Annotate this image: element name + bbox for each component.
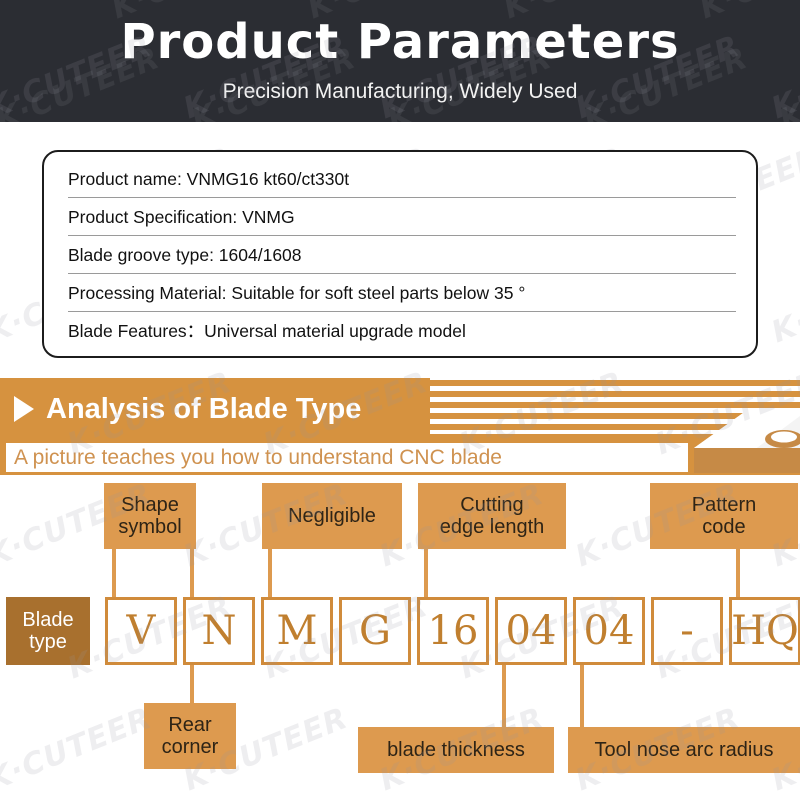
connector-pattern-code (424, 547, 428, 601)
label-negligible-text: Negligible (288, 505, 376, 527)
connector-blade-thickness (502, 663, 506, 729)
blade-code-diagram: Shape symbol Negligible Cutting edge len… (0, 475, 800, 800)
spec-row: Blade Features：Universal material upgrad… (68, 312, 736, 350)
banner-subheading-strip: A picture teaches you how to understand … (0, 440, 800, 475)
spec-row-list: Product name: VNMG16 kt60/ct330t Product… (68, 160, 736, 350)
label-blade-type: Blade type (6, 597, 90, 665)
header-banner: K·CUTEERK·CUTEERK·CUTEERK·CUTEERK·CUTEER… (0, 0, 800, 122)
label-tool-nose-arc-radius: Tool nose arc radius (568, 727, 800, 773)
label-pattern-code-line2: code (692, 516, 756, 538)
watermark-text: K·CUTEER (767, 253, 800, 350)
product-spec-card: Product name: VNMG16 kt60/ct330t Product… (42, 150, 758, 358)
cnc-insert-3d-icon (688, 408, 800, 475)
label-shape-symbol-line1: Shape (118, 494, 181, 516)
code-box-tolerance: M (261, 597, 333, 665)
label-blade-thickness-text: blade thickness (387, 739, 525, 761)
label-pattern-code-line1: Pattern (692, 494, 756, 516)
label-rear-corner: Rear corner (144, 703, 236, 769)
code-box-rear-corner: N (183, 597, 255, 665)
spec-row: Product name: VNMG16 kt60/ct330t (68, 160, 736, 198)
label-rear-corner-line2: corner (162, 736, 219, 758)
label-tool-nose-arc-radius-text: Tool nose arc radius (595, 739, 774, 761)
label-blade-type-line1: Blade (22, 609, 73, 631)
label-shape-symbol: Shape symbol (104, 483, 196, 549)
connector-shape-symbol (112, 547, 116, 601)
code-box-shape-symbol: V (105, 597, 177, 665)
product-parameters-infographic: K·CUTEERK·CUTEERK·CUTEERK·CUTEERK·CUTEER… (0, 0, 800, 800)
spec-row: Blade groove type: 1604/1608 (68, 236, 736, 274)
code-box-blade-thickness: 04 (495, 597, 567, 665)
code-box-type: G (339, 597, 411, 665)
page-title: Product Parameters (0, 14, 800, 70)
label-rear-corner-line1: Rear (162, 714, 219, 736)
code-box-cutting-edge-length: 16 (417, 597, 489, 665)
banner-heading: Analysis of Blade Type (46, 393, 361, 426)
code-box-separator: - (651, 597, 723, 665)
label-pattern-code: Pattern code (650, 483, 798, 549)
label-blade-thickness: blade thickness (358, 727, 554, 773)
spec-row: Processing Material: Suitable for soft s… (68, 274, 736, 312)
banner-heading-group: Analysis of Blade Type (14, 386, 361, 432)
label-negligible: Negligible (262, 483, 402, 549)
section-banner: Analysis of Blade Type A picture teaches… (0, 378, 800, 475)
code-box-pattern-code: HQ (729, 597, 800, 665)
connector-tool-nose-arc-radius (580, 663, 584, 729)
page-subtitle: Precision Manufacturing, Widely Used (0, 80, 800, 104)
label-blade-type-line2: type (29, 631, 67, 653)
spec-row: Product Specification: VNMG (68, 198, 736, 236)
banner-subheading: A picture teaches you how to understand … (6, 446, 502, 470)
connector-cutting-edge-length (268, 547, 272, 601)
banner-subheading-inner: A picture teaches you how to understand … (6, 443, 688, 472)
connector-pattern-code-right (736, 547, 740, 601)
label-shape-symbol-line2: symbol (118, 516, 181, 538)
label-cutting-edge-line1: Cutting (440, 494, 545, 516)
connector-negligible (190, 547, 194, 601)
label-cutting-edge-line2: edge length (440, 516, 545, 538)
label-cutting-edge-length: Cutting edge length (418, 483, 566, 549)
connector-rear-corner-vertical (190, 663, 194, 705)
play-triangle-icon (14, 396, 34, 422)
code-box-tool-nose-arc-radius: 04 (573, 597, 645, 665)
